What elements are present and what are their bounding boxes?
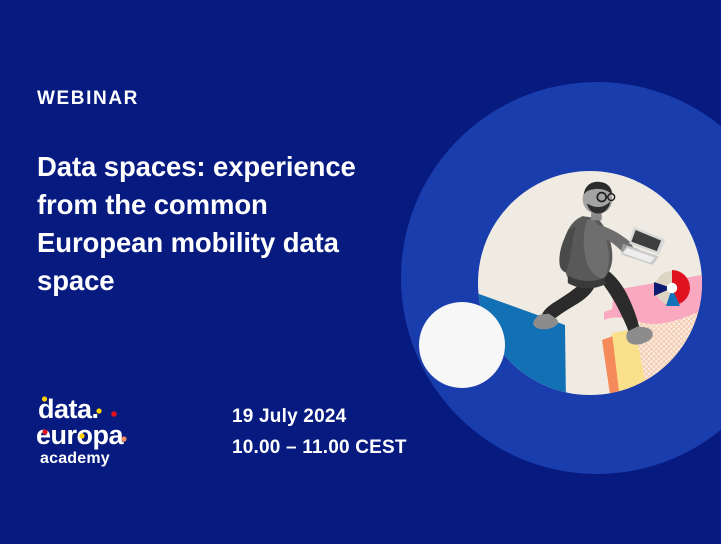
yellow-panel <box>612 322 684 400</box>
logo-dot-yellow-2 <box>96 408 101 413</box>
halftone-texture-panel <box>634 300 716 396</box>
logo-mark: data. europa academy <box>36 392 166 468</box>
event-datetime: 19 July 2024 10.00 – 11.00 CEST <box>232 401 407 464</box>
pinwheel-motif <box>654 270 690 306</box>
data-europa-academy-logo[interactable]: data. europa academy <box>36 392 166 468</box>
pink-panel <box>612 272 720 316</box>
orange-panel <box>602 300 716 408</box>
eyebrow-label: WEBINAR <box>37 89 139 108</box>
cream-inner-circle <box>478 171 702 395</box>
logo-dot-yellow <box>42 396 47 401</box>
logo-dot-yellow-3 <box>79 433 84 438</box>
logo-dot-red-2 <box>42 429 47 434</box>
webinar-promo-poster: WEBINAR Data spaces: experience from the… <box>0 0 721 544</box>
page-title: Data spaces: experience from the common … <box>37 148 392 300</box>
logo-dot-red <box>111 411 117 417</box>
logo-dot-orange <box>121 436 126 441</box>
yellow-panel-dot <box>650 364 653 367</box>
event-date: 19 July 2024 <box>232 401 407 432</box>
logo-line3: academy <box>40 450 110 467</box>
pink-panel-body <box>604 272 720 324</box>
cerulean-angular-wedge <box>452 290 566 410</box>
event-time: 10.00 – 11.00 CEST <box>232 432 407 463</box>
running-man-figure <box>533 182 665 345</box>
royal-blue-circle <box>401 82 721 474</box>
small-white-circle <box>419 302 505 388</box>
